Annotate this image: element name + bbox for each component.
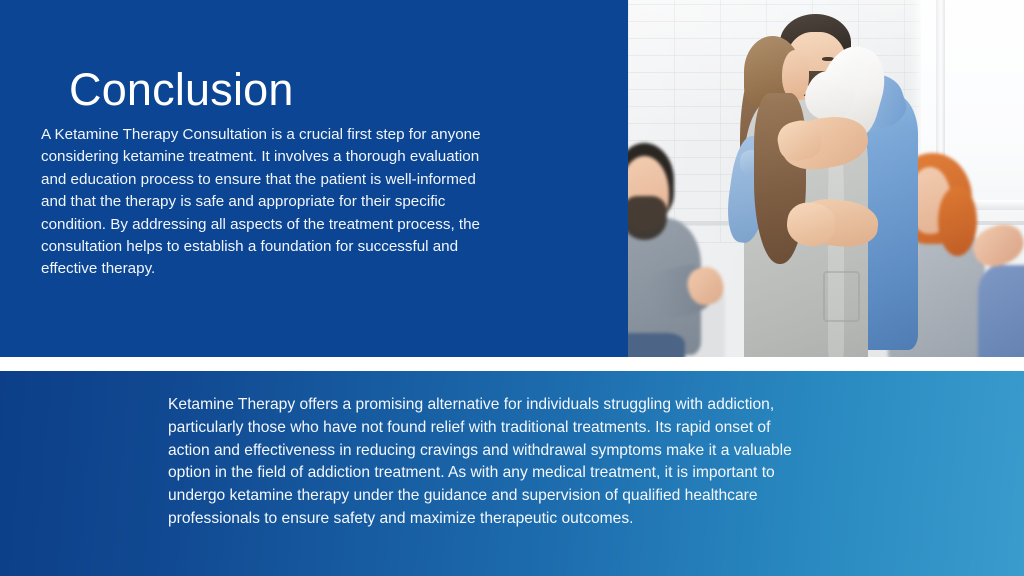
jeans-left: [628, 333, 685, 357]
cardigan-pocket: [823, 271, 860, 321]
top-panel: Conclusion A Ketamine Therapy Consultati…: [0, 0, 1024, 357]
body-far-right: [978, 265, 1024, 357]
page-title: Conclusion: [69, 64, 294, 116]
support-group-hug-photo: [628, 0, 1024, 357]
bottom-paragraph: Ketamine Therapy offers a promising alte…: [168, 394, 810, 531]
seated-person-far-right: [973, 214, 1024, 357]
hugging-pair: [711, 14, 949, 357]
top-paragraph: A Ketamine Therapy Consultation is a cru…: [41, 124, 503, 281]
white-divider: [0, 357, 1024, 371]
slide-conclusion: Conclusion A Ketamine Therapy Consultati…: [0, 0, 1024, 576]
bottom-gradient-band: Ketamine Therapy offers a promising alte…: [0, 371, 1024, 576]
top-text-column: Conclusion A Ketamine Therapy Consultati…: [40, 0, 520, 357]
